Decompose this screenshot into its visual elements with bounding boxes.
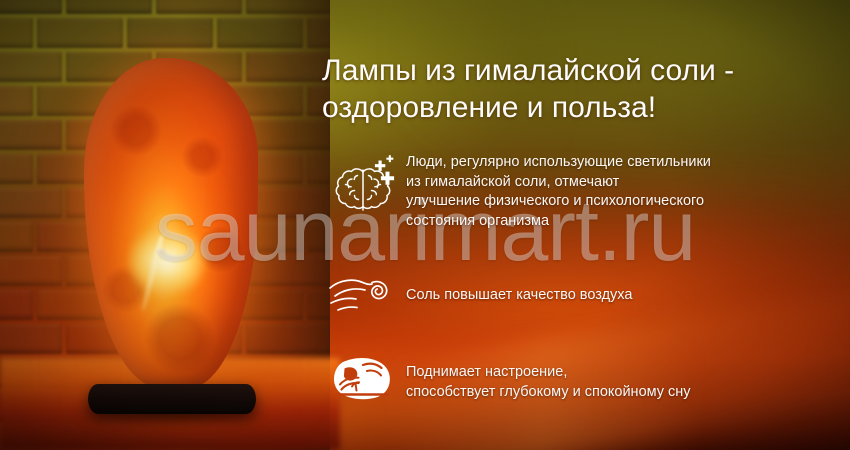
list-item-text: Соль повышает качество воздуха xyxy=(406,285,632,306)
list-item: Люди, регулярно использующие светильники… xyxy=(320,152,850,231)
feature-1-line-2: из гималайской соли, отмечают xyxy=(406,173,711,193)
feature-1-line-1: Люди, регулярно использующие светильники xyxy=(406,153,711,173)
feature-3-line-1: Поднимает настроение, xyxy=(406,363,691,383)
benefits-list: Люди, регулярно использующие светильники… xyxy=(320,152,850,408)
feature-1-line-3: улучшение физического и психологического xyxy=(406,192,711,212)
list-item-text: Люди, регулярно использующие светильники… xyxy=(406,152,711,231)
salt-lamp-promo-banner: saunarimart.ru Лампы из гималайской соли… xyxy=(0,0,850,450)
sleeping-person-icon xyxy=(320,356,406,408)
headline-line-2: оздоровление и польза! xyxy=(322,89,842,126)
headline-line-1: Лампы из гималайской соли - xyxy=(322,52,842,89)
page-title: Лампы из гималайской соли - оздоровление… xyxy=(322,52,842,126)
feature-1-line-4: состояния организма xyxy=(406,212,711,232)
list-item: Поднимает настроение, способствует глубо… xyxy=(320,356,850,408)
list-item-text: Поднимает настроение, способствует глубо… xyxy=(406,362,691,402)
list-item: Соль повышает качество воздуха xyxy=(320,272,850,318)
brain-sparkle-icon xyxy=(320,152,406,216)
feature-3-line-2: способствует глубокому и спокойному сну xyxy=(406,383,691,403)
wind-swirl-icon xyxy=(320,272,406,318)
content-column: Лампы из гималайской соли - оздоровление… xyxy=(320,0,850,450)
feature-2-line-1: Соль повышает качество воздуха xyxy=(406,286,632,306)
